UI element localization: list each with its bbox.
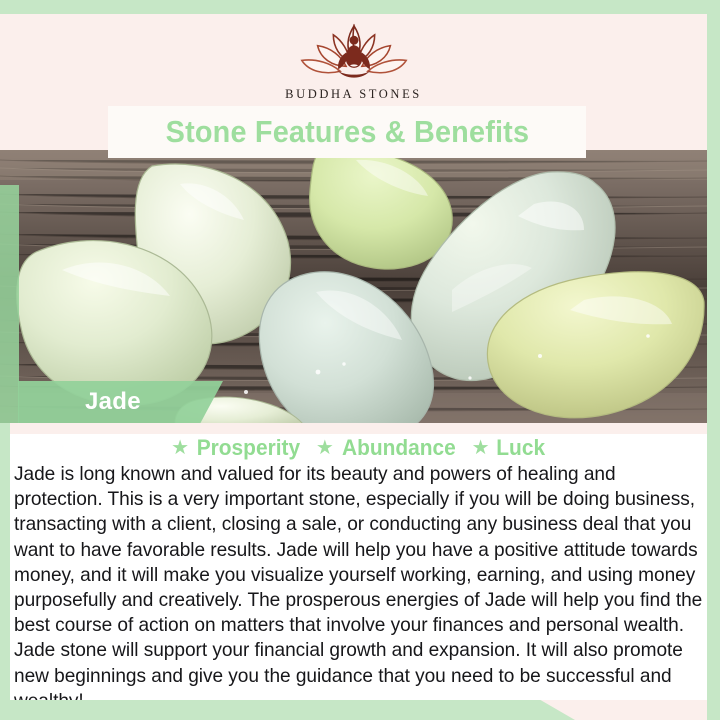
benefit-item: ★ Prosperity xyxy=(171,435,303,461)
benefit-item: ★ Luck xyxy=(472,435,546,461)
page-title: Stone Features & Benefits xyxy=(165,114,529,150)
brand-name: BUDDHA STONES xyxy=(285,87,422,102)
benefit-label: Abundance xyxy=(342,435,456,461)
benefit-label: Prosperity xyxy=(197,435,300,461)
benefit-item: ★ Abundance xyxy=(316,435,459,461)
star-icon: ★ xyxy=(472,438,490,458)
description-text: Jade is long known and valued for its be… xyxy=(14,462,704,714)
title-banner: Stone Features & Benefits xyxy=(108,106,586,158)
right-accent-rail xyxy=(707,0,720,720)
brand-header: BUDDHA STONES xyxy=(0,14,707,106)
star-icon: ★ xyxy=(316,438,334,458)
photo-caption: Jade xyxy=(85,388,141,416)
photo-edge-accent xyxy=(0,185,19,423)
top-accent-rail xyxy=(0,0,720,14)
lotus-meditation-icon xyxy=(294,22,414,86)
benefits-row: ★ Prosperity ★ Abundance ★ Luck xyxy=(10,433,707,463)
benefit-label: Luck xyxy=(496,435,545,461)
star-icon: ★ xyxy=(171,438,189,458)
bottom-accent-band xyxy=(0,700,575,720)
infographic-card: BUDDHA STONES Stone Features & Benefits xyxy=(0,0,720,720)
left-accent-rail xyxy=(0,423,10,700)
